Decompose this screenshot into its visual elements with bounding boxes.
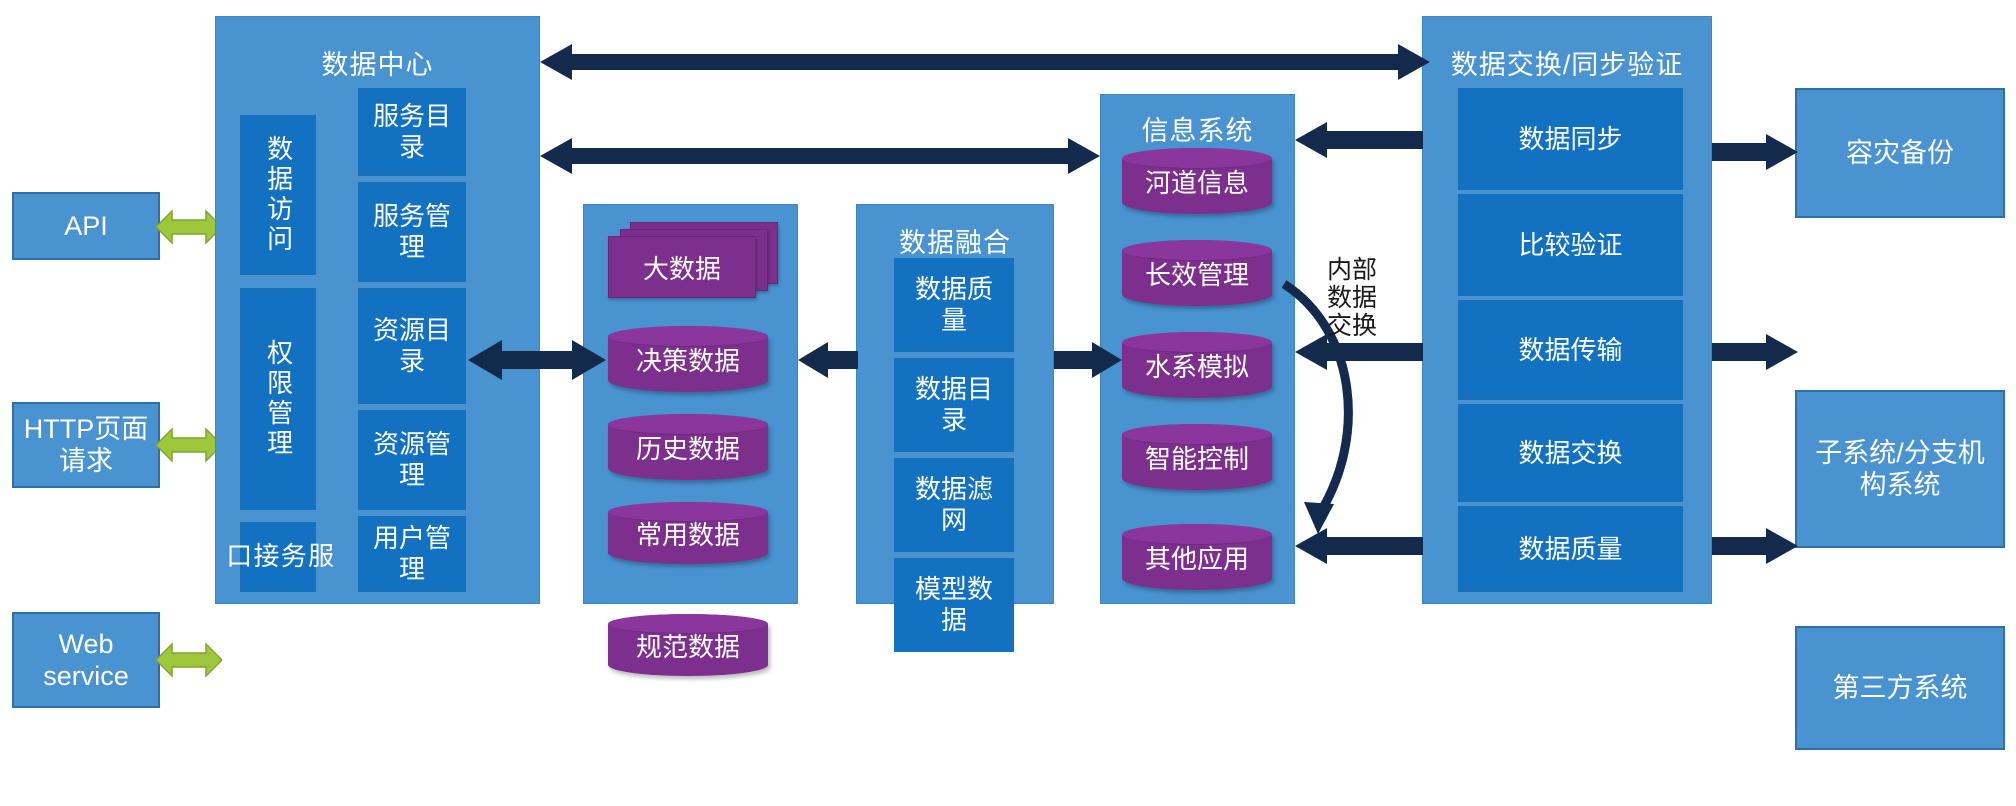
dc-node-service-catalog[interactable]: 服务目录 bbox=[358, 88, 466, 176]
big-data-stack[interactable]: 大数据 bbox=[608, 222, 778, 300]
node-label: 资源目录 bbox=[369, 315, 455, 376]
arrow-exchange-to-info-quality bbox=[1295, 528, 1423, 564]
exchange-node-data-sync[interactable]: 数据同步 bbox=[1458, 88, 1683, 190]
arrow-datacenter-bigdata bbox=[468, 340, 606, 380]
bigdata-cylinder-common[interactable]: 常用数据 bbox=[608, 502, 768, 564]
external-box-subsystem[interactable]: 子系统/分支机 构系统 bbox=[1795, 390, 2005, 548]
node-label: 权限管理 bbox=[264, 339, 291, 459]
data-center-title: 数据中心 bbox=[216, 43, 539, 82]
internal-exchange-label: 内部 数据 交换 bbox=[1316, 256, 1388, 340]
dc-node-service-interface[interactable]: 服务接口 bbox=[240, 522, 316, 592]
arrow-datacenter-infosystem bbox=[540, 138, 1100, 174]
exchange-node-data-exchange[interactable]: 数据交换 bbox=[1458, 404, 1683, 502]
arrow-exchange-to-info-transfer bbox=[1295, 334, 1423, 370]
info-cylinder-river-info[interactable]: 河道信息 bbox=[1122, 148, 1272, 214]
external-box-third-party[interactable]: 第三方系统 bbox=[1795, 626, 2005, 750]
info-cylinder-smart-control[interactable]: 智能控制 bbox=[1122, 424, 1272, 490]
info-cylinder-longterm-mgmt[interactable]: 长效管理 bbox=[1122, 240, 1272, 306]
fusion-node-model-data[interactable]: 模型数据 bbox=[894, 558, 1014, 652]
exchange-node-compare-verify[interactable]: 比较验证 bbox=[1458, 194, 1683, 296]
node-label: 服务管理 bbox=[369, 201, 455, 262]
stack-sheet-front: 大数据 bbox=[608, 236, 756, 298]
node-label: 用户管理 bbox=[369, 523, 455, 584]
dc-node-resource-management[interactable]: 资源管理 bbox=[358, 410, 466, 510]
arrow-fusion-to-bigdata bbox=[798, 342, 858, 378]
external-box-web-service[interactable]: Web service bbox=[12, 612, 160, 708]
info-cylinder-water-sim[interactable]: 水系模拟 bbox=[1122, 332, 1272, 398]
arrow-fusion-to-infosystem bbox=[1054, 342, 1122, 378]
dc-node-service-management[interactable]: 服务管理 bbox=[358, 182, 466, 282]
arrow-exchange-to-backup bbox=[1712, 134, 1798, 170]
exchange-sync-title: 数据交换/同步验证 bbox=[1423, 43, 1711, 82]
fusion-node-data-catalog[interactable]: 数据目录 bbox=[894, 358, 1014, 452]
node-label: 资源管理 bbox=[369, 429, 455, 490]
big-data-label: 大数据 bbox=[643, 249, 721, 286]
exchange-node-data-quality[interactable]: 数据质量 bbox=[1458, 506, 1683, 592]
dc-node-permission-management[interactable]: 权限管理 bbox=[240, 288, 316, 510]
info-cylinder-other-apps[interactable]: 其他应用 bbox=[1122, 524, 1272, 590]
info-system-title: 信息系统 bbox=[1101, 109, 1294, 148]
dc-node-user-management[interactable]: 用户管理 bbox=[358, 516, 466, 592]
fusion-node-data-quality[interactable]: 数据质量 bbox=[894, 258, 1014, 352]
external-box-label: HTTP页面 请求 bbox=[24, 413, 149, 478]
external-box-api[interactable]: API bbox=[12, 192, 160, 260]
external-box-http-request[interactable]: HTTP页面 请求 bbox=[12, 402, 160, 488]
bigdata-cylinder-decision[interactable]: 决策数据 bbox=[608, 326, 768, 392]
external-box-label: API bbox=[64, 210, 108, 242]
arrow-exchange-to-info-sync bbox=[1295, 122, 1423, 158]
exchange-node-data-transfer[interactable]: 数据传输 bbox=[1458, 300, 1683, 400]
external-box-label: Web service bbox=[43, 628, 129, 693]
architecture-diagram: API HTTP页面 请求 Web service 数据中心 数据访问 权限管理… bbox=[0, 0, 2016, 806]
bigdata-cylinder-history[interactable]: 历史数据 bbox=[608, 414, 768, 480]
data-fusion-title: 数据融合 bbox=[857, 221, 1053, 260]
arrow-exchange-to-subsystem bbox=[1712, 334, 1798, 370]
external-box-disaster-backup[interactable]: 容灾备份 bbox=[1795, 88, 2005, 218]
green-arrow-http bbox=[156, 426, 222, 464]
green-arrow-api bbox=[156, 208, 222, 246]
arrow-exchange-to-thirdparty bbox=[1712, 528, 1798, 564]
bigdata-cylinder-standard[interactable]: 规范数据 bbox=[608, 614, 768, 676]
fusion-node-data-filter[interactable]: 数据滤网 bbox=[894, 458, 1014, 552]
green-arrow-webservice bbox=[156, 641, 222, 679]
arrow-datacenter-exchange-top bbox=[540, 44, 1430, 80]
node-label: 服务目录 bbox=[369, 101, 455, 162]
dc-node-data-access[interactable]: 数据访问 bbox=[240, 115, 316, 275]
dc-node-resource-catalog[interactable]: 资源目录 bbox=[358, 288, 466, 404]
node-label: 数据访问 bbox=[264, 135, 291, 255]
node-label: 服务接口 bbox=[223, 533, 332, 581]
